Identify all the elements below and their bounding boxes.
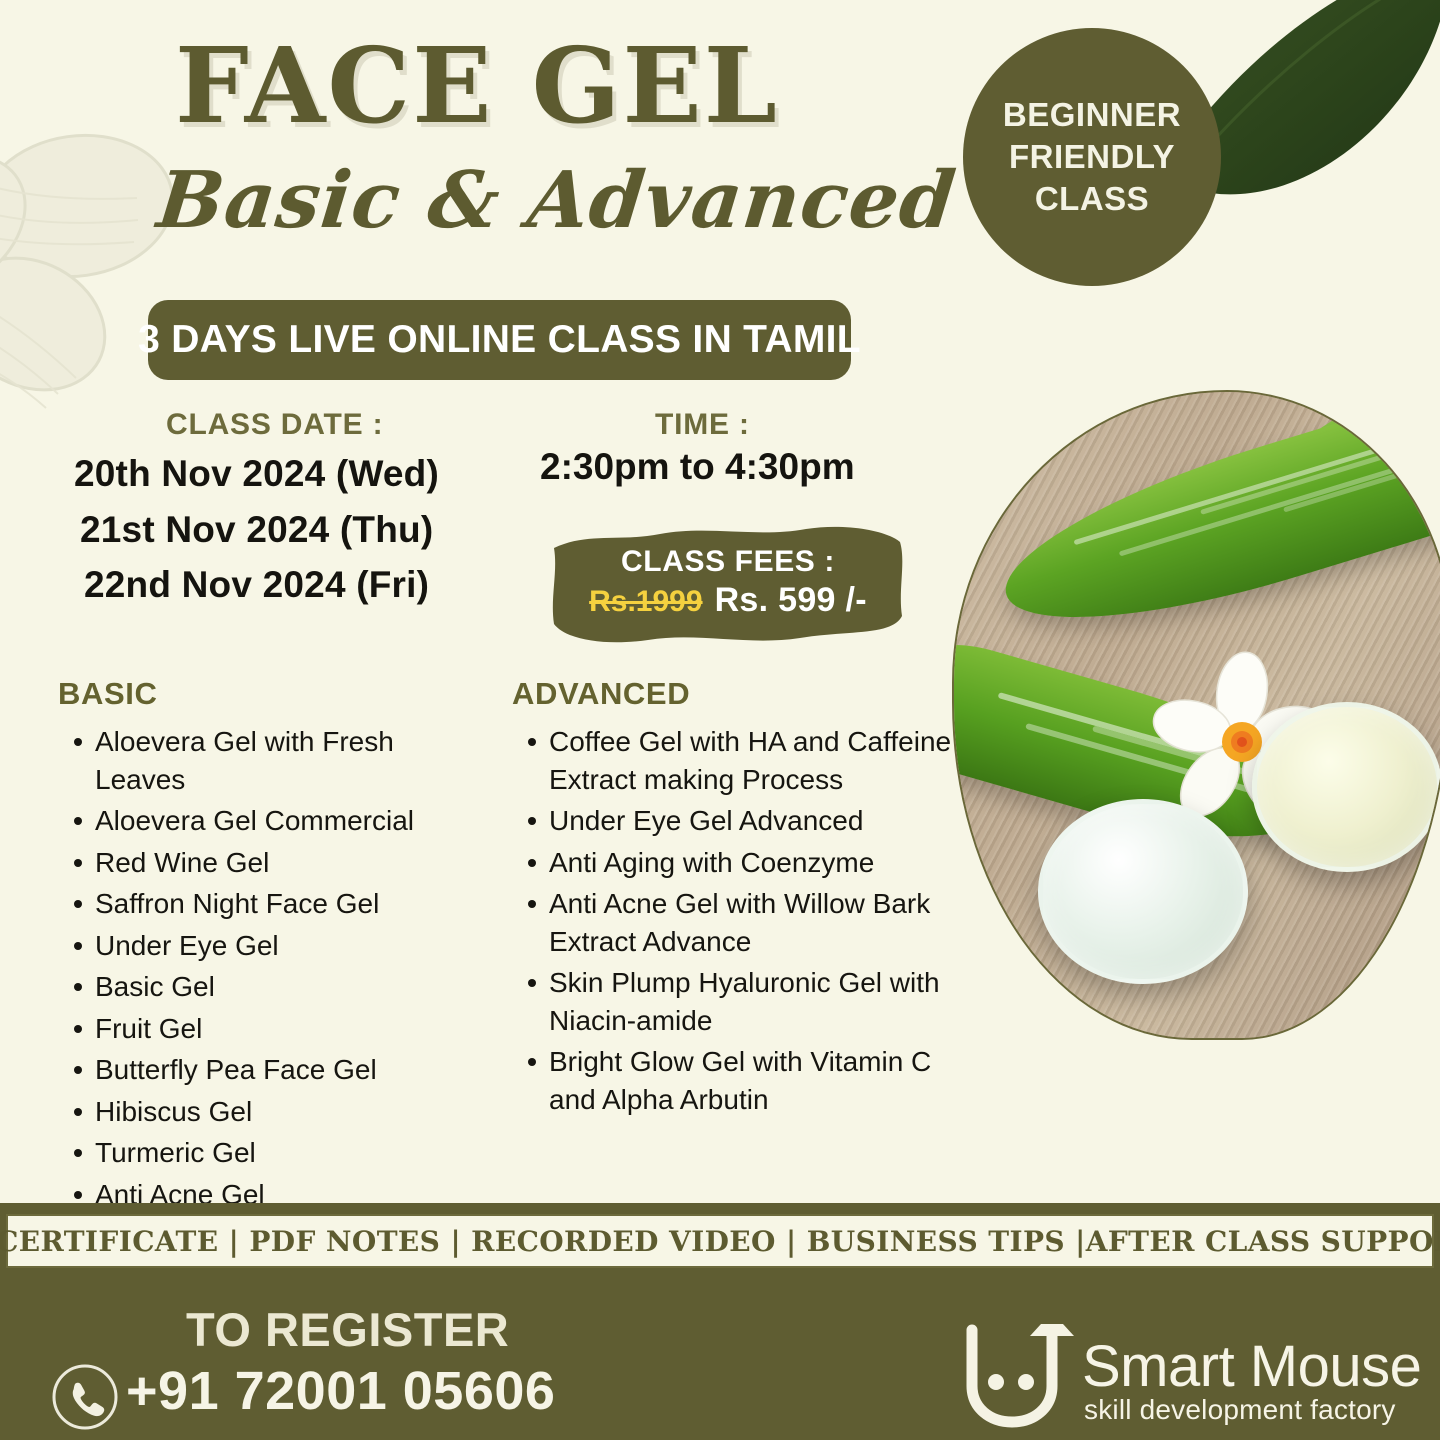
- list-item: Fruit Gel: [58, 1010, 488, 1048]
- class-fees-block: CLASS FEES : Rs.1999 Rs. 599 /-: [548, 520, 908, 645]
- original-price: Rs.1999: [589, 585, 702, 619]
- list-item: Anti Acne Gel with Willow Bark Extract A…: [512, 885, 972, 960]
- list-item: Anti Aging with Coenzyme: [512, 844, 972, 882]
- brand-name: Smart Mouse: [1082, 1338, 1421, 1396]
- list-item: Bright Glow Gel with Vitamin C and Alpha…: [512, 1043, 972, 1118]
- beginner-friendly-badge: BEGINNER FRIENDLY CLASS: [963, 28, 1221, 286]
- list-item: Butterfly Pea Face Gel: [58, 1051, 488, 1089]
- list-item: Hibiscus Gel: [58, 1093, 488, 1131]
- time-label: TIME :: [655, 408, 750, 442]
- phone-icon[interactable]: [50, 1362, 120, 1432]
- badge-line-2: FRIENDLY: [1009, 136, 1175, 178]
- phone-number[interactable]: +91 72001 05606: [126, 1360, 555, 1422]
- product-photo: [952, 390, 1440, 1040]
- list-item: Aloevera Gel Commercial: [58, 802, 488, 840]
- advanced-syllabus-column: ADVANCED Coffee Gel with HA and Caffeine…: [512, 676, 972, 1122]
- class-time-value: 2:30pm to 4:30pm: [540, 446, 855, 488]
- basic-list: Aloevera Gel with Fresh Leaves Aloevera …: [58, 723, 488, 1255]
- smart-mouse-logo-icon: [960, 1324, 1078, 1430]
- brand-tagline: skill development factory: [1084, 1396, 1396, 1424]
- class-fees-label: CLASS FEES :: [621, 545, 835, 579]
- class-date-2: 21st Nov 2024 (Thu): [74, 502, 514, 558]
- poster-root: FACE GEL Basic & Advanced BEGINNER FRIEN…: [0, 0, 1440, 1440]
- advanced-heading: ADVANCED: [512, 676, 972, 712]
- benefits-text: E-CERTIFICATE | PDF NOTES | RECORDED VID…: [0, 1225, 1440, 1258]
- class-date-list: 20th Nov 2024 (Wed) 21st Nov 2024 (Thu) …: [74, 446, 514, 613]
- list-item: Aloevera Gel with Fresh Leaves: [58, 723, 488, 798]
- list-item: Coffee Gel with HA and Caffeine Extract …: [512, 723, 972, 798]
- basic-syllabus-column: BASIC Aloevera Gel with Fresh Leaves Alo…: [58, 676, 488, 1259]
- gel-jar-right: [1252, 702, 1440, 872]
- badge-line-3: CLASS: [1035, 178, 1149, 220]
- gel-jar-left: [1038, 799, 1248, 984]
- benefits-strip: E-CERTIFICATE | PDF NOTES | RECORDED VID…: [6, 1214, 1434, 1268]
- class-date-3: 22nd Nov 2024 (Fri): [74, 557, 514, 613]
- page-subtitle: Basic & Advanced: [154, 162, 960, 240]
- discounted-price: Rs. 599 /-: [715, 581, 867, 620]
- list-item: Saffron Night Face Gel: [58, 885, 488, 923]
- list-item: Basic Gel: [58, 968, 488, 1006]
- list-item: Turmeric Gel: [58, 1134, 488, 1172]
- brand-logo: Smart Mouse skill development factory: [960, 1322, 1430, 1432]
- class-format-pill: 3 DAYS LIVE ONLINE CLASS IN TAMIL: [148, 300, 851, 380]
- page-title: FACE GEL: [175, 34, 779, 138]
- basic-heading: BASIC: [58, 676, 488, 712]
- class-format-text: 3 DAYS LIVE ONLINE CLASS IN TAMIL: [138, 318, 861, 362]
- list-item: Skin Plump Hyaluronic Gel with Niacin-am…: [512, 964, 972, 1039]
- badge-line-1: BEGINNER: [1003, 94, 1181, 136]
- list-item: Under Eye Gel: [58, 927, 488, 965]
- class-date-label: CLASS DATE :: [166, 408, 383, 442]
- list-item: Red Wine Gel: [58, 844, 488, 882]
- advanced-list: Coffee Gel with HA and Caffeine Extract …: [512, 723, 972, 1118]
- register-title: TO REGISTER: [186, 1302, 509, 1357]
- class-date-1: 20th Nov 2024 (Wed): [74, 446, 514, 502]
- list-item: Under Eye Gel Advanced: [512, 802, 972, 840]
